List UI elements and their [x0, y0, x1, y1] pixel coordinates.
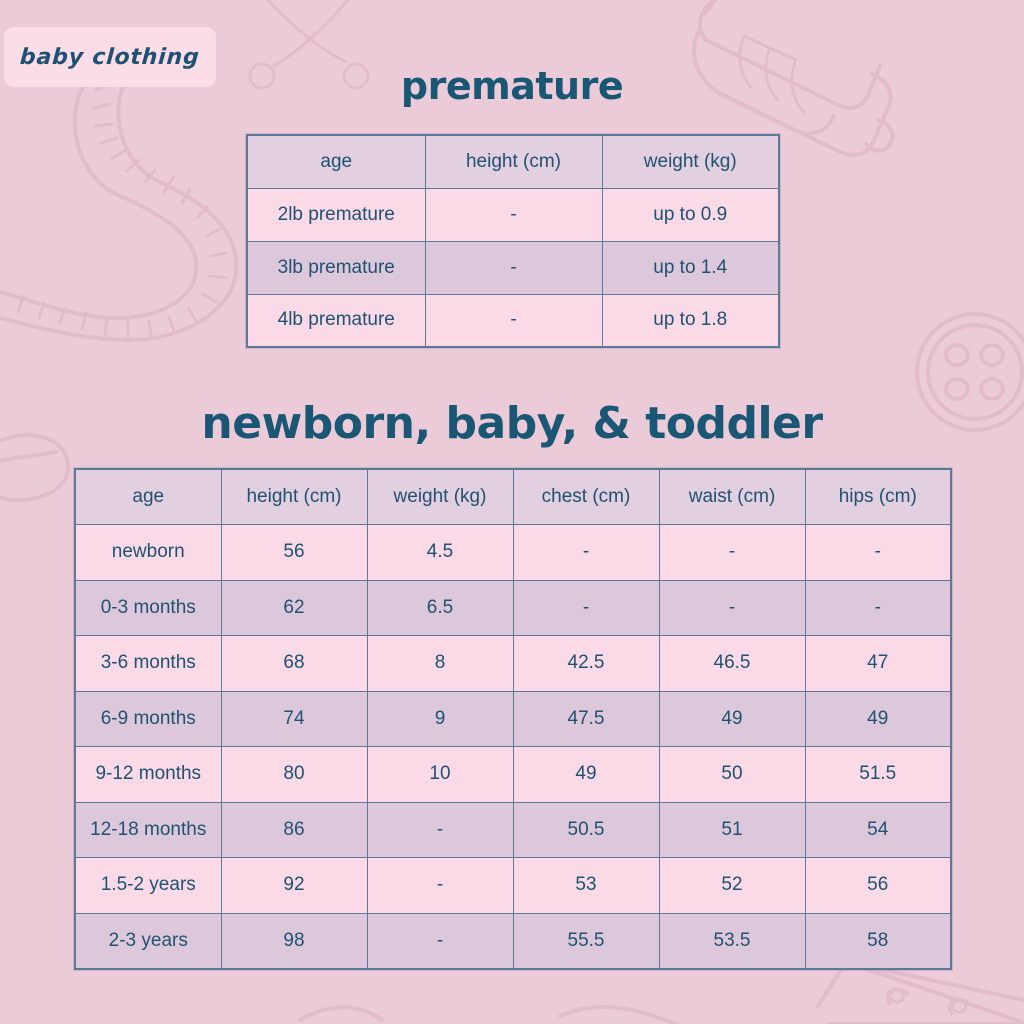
- cell-weight: up to 1.8: [602, 294, 779, 347]
- cell-height: -: [425, 294, 602, 347]
- cell-chest: 47.5: [513, 691, 659, 747]
- cell-hips: -: [805, 525, 951, 581]
- cell-weight: -: [367, 913, 513, 969]
- cell-waist: 51: [659, 802, 805, 858]
- cell-waist: 49: [659, 691, 805, 747]
- cell-weight: 8: [367, 636, 513, 692]
- table-row: 2-3 years 98 - 55.5 53.5 58: [75, 913, 951, 969]
- page-title-newborn: newborn, baby, & toddler: [0, 398, 1024, 449]
- cell-height: -: [425, 241, 602, 294]
- table-row: 3lb premature - up to 1.4: [247, 241, 779, 294]
- cell-waist: 50: [659, 747, 805, 803]
- cell-waist: -: [659, 580, 805, 636]
- cell-height: 56: [221, 525, 367, 581]
- cell-hips: 49: [805, 691, 951, 747]
- column-header-weight: weight (kg): [602, 135, 779, 188]
- cell-chest: 42.5: [513, 636, 659, 692]
- cell-chest: 50.5: [513, 802, 659, 858]
- cell-height: 86: [221, 802, 367, 858]
- cell-weight: up to 1.4: [602, 241, 779, 294]
- cell-hips: 56: [805, 858, 951, 914]
- cell-height: 80: [221, 747, 367, 803]
- page-title-premature: premature: [0, 64, 1024, 108]
- cell-age: 2-3 years: [75, 913, 221, 969]
- cell-height: -: [425, 188, 602, 241]
- cell-age: 4lb premature: [247, 294, 425, 347]
- cell-chest: -: [513, 580, 659, 636]
- cell-age: 9-12 months: [75, 747, 221, 803]
- thread-spool-doodle: [818, 962, 1024, 1024]
- table-row: 1.5-2 years 92 - 53 52 56: [75, 858, 951, 914]
- cell-weight: 9: [367, 691, 513, 747]
- table-row: 2lb premature - up to 0.9: [247, 188, 779, 241]
- cell-height: 62: [221, 580, 367, 636]
- column-header-waist: waist (cm): [659, 469, 805, 525]
- cell-weight: up to 0.9: [602, 188, 779, 241]
- cell-height: 92: [221, 858, 367, 914]
- cell-age: 3lb premature: [247, 241, 425, 294]
- table-row: 6-9 months 74 9 47.5 49 49: [75, 691, 951, 747]
- cell-height: 98: [221, 913, 367, 969]
- cell-hips: 51.5: [805, 747, 951, 803]
- column-header-chest: chest (cm): [513, 469, 659, 525]
- column-header-age: age: [247, 135, 425, 188]
- cell-weight: 6.5: [367, 580, 513, 636]
- cell-chest: 53: [513, 858, 659, 914]
- cell-age: 1.5-2 years: [75, 858, 221, 914]
- cell-weight: -: [367, 802, 513, 858]
- column-header-height: height (cm): [425, 135, 602, 188]
- cell-chest: 49: [513, 747, 659, 803]
- cell-chest: -: [513, 525, 659, 581]
- column-header-weight: weight (kg): [367, 469, 513, 525]
- cell-weight: -: [367, 858, 513, 914]
- cell-weight: 10: [367, 747, 513, 803]
- cell-waist: 46.5: [659, 636, 805, 692]
- cell-age: 2lb premature: [247, 188, 425, 241]
- cell-height: 74: [221, 691, 367, 747]
- table-row: newborn 56 4.5 - - -: [75, 525, 951, 581]
- column-header-age: age: [75, 469, 221, 525]
- cell-hips: 58: [805, 913, 951, 969]
- cell-age: 6-9 months: [75, 691, 221, 747]
- cell-age: newborn: [75, 525, 221, 581]
- cell-waist: -: [659, 525, 805, 581]
- table-row: 12-18 months 86 - 50.5 51 54: [75, 802, 951, 858]
- cell-height: 68: [221, 636, 367, 692]
- cell-hips: 54: [805, 802, 951, 858]
- table-row: 3-6 months 68 8 42.5 46.5 47: [75, 636, 951, 692]
- column-header-height: height (cm): [221, 469, 367, 525]
- premature-size-table: age height (cm) weight (kg) 2lb prematur…: [246, 134, 780, 348]
- cell-chest: 55.5: [513, 913, 659, 969]
- table-row: 4lb premature - up to 1.8: [247, 294, 779, 347]
- column-header-hips: hips (cm): [805, 469, 951, 525]
- cell-weight: 4.5: [367, 525, 513, 581]
- cell-waist: 53.5: [659, 913, 805, 969]
- table-header-row: age height (cm) weight (kg): [247, 135, 779, 188]
- cell-age: 3-6 months: [75, 636, 221, 692]
- table-row: 9-12 months 80 10 49 50 51.5: [75, 747, 951, 803]
- table-header-row: age height (cm) weight (kg) chest (cm) w…: [75, 469, 951, 525]
- cell-age: 0-3 months: [75, 580, 221, 636]
- newborn-baby-toddler-size-table: age height (cm) weight (kg) chest (cm) w…: [74, 468, 952, 970]
- cell-age: 12-18 months: [75, 802, 221, 858]
- cell-hips: 47: [805, 636, 951, 692]
- ribbon-doodle: [300, 1007, 676, 1024]
- cell-hips: -: [805, 580, 951, 636]
- table-row: 0-3 months 62 6.5 - - -: [75, 580, 951, 636]
- cell-waist: 52: [659, 858, 805, 914]
